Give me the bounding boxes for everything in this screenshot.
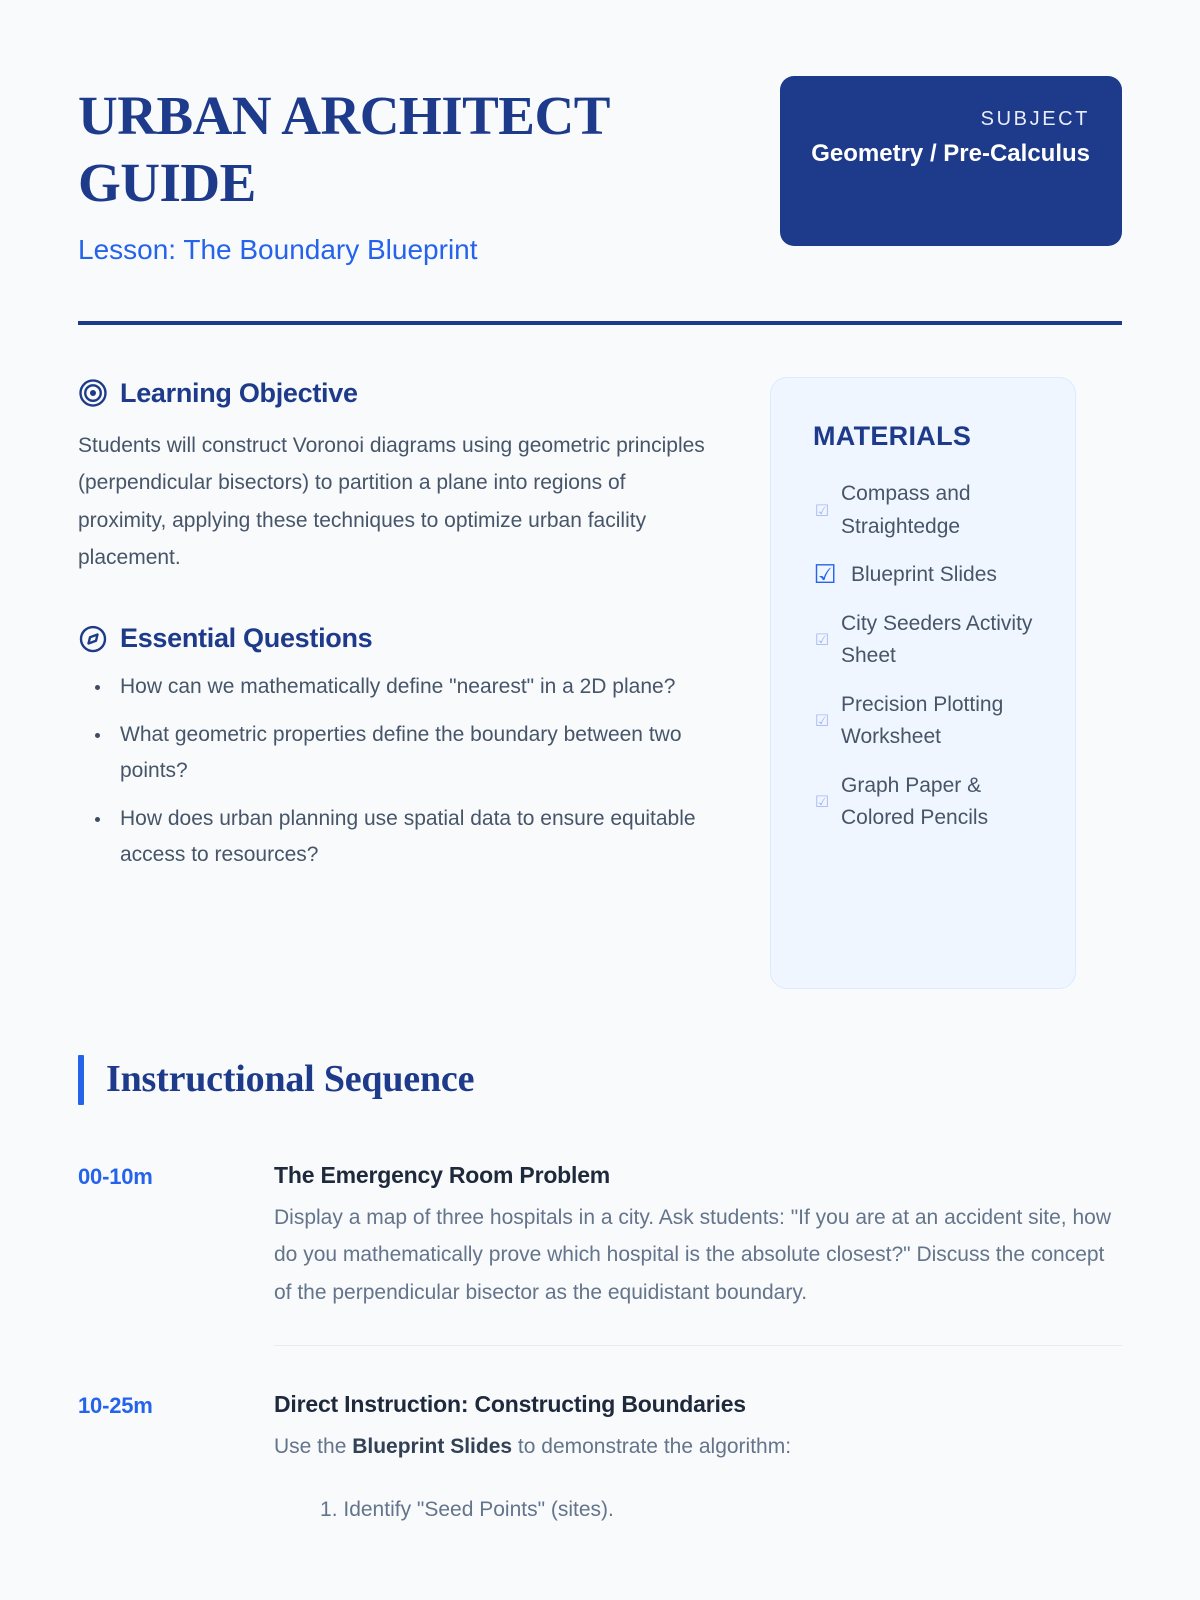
target-icon xyxy=(78,378,108,408)
materials-item[interactable]: ☑ Compass and Straightedge xyxy=(813,478,1053,543)
sequence-item-title: The Emergency Room Problem xyxy=(274,1159,1122,1191)
sequence-item-time: 00-10m xyxy=(78,1159,274,1193)
materials-item-label: Precision Plotting Worksheet xyxy=(841,689,1053,754)
checked-box-icon: ☑ xyxy=(813,503,831,519)
materials-item[interactable]: ☑ City Seeders Activity Sheet xyxy=(813,608,1053,673)
learning-objective-heading: Learning Objective xyxy=(78,377,730,409)
materials-item-label: City Seeders Activity Sheet xyxy=(841,608,1053,673)
materials-item-label: Compass and Straightedge xyxy=(841,478,1053,543)
materials-heading: MATERIALS xyxy=(813,420,1053,452)
instructional-sequence-heading: Instructional Sequence xyxy=(78,1055,1122,1105)
body-columns: Learning Objective Students will constru… xyxy=(78,377,1122,989)
checked-box-icon: ☑ xyxy=(813,562,837,588)
title-block: URBAN ARCHITECT GUIDE Lesson: The Bounda… xyxy=(78,76,740,269)
sequence-item: 00-10m The Emergency Room Problem Displa… xyxy=(78,1159,1122,1311)
essential-questions-heading: Essential Questions xyxy=(78,622,730,654)
spacer xyxy=(78,1346,1122,1388)
sequence-item-body: The Emergency Room Problem Display a map… xyxy=(274,1159,1122,1311)
sequence-item-body: Direct Instruction: Constructing Boundar… xyxy=(274,1388,1122,1529)
sequence-item-text: Display a map of three hospitals in a ci… xyxy=(274,1199,1122,1311)
materials-item-label: Graph Paper & Colored Pencils xyxy=(841,770,1053,835)
list-item: How can we mathematically define "neares… xyxy=(78,669,730,705)
compass-icon xyxy=(78,624,108,654)
lesson-subtitle: Lesson: The Boundary Blueprint xyxy=(78,232,740,268)
document-header: URBAN ARCHITECT GUIDE Lesson: The Bounda… xyxy=(78,0,1122,269)
instructional-sequence-title: Instructional Sequence xyxy=(106,1057,474,1103)
accent-bar xyxy=(78,1055,84,1105)
sequence-item: 10-25m Direct Instruction: Constructing … xyxy=(78,1388,1122,1529)
materials-item-label: Blueprint Slides xyxy=(847,559,997,592)
learning-objective-title: Learning Objective xyxy=(120,377,358,409)
list-item: Identify "Seed Points" (sites). xyxy=(320,1491,1122,1528)
instructional-sequence-section: Instructional Sequence 00-10m The Emerge… xyxy=(78,1055,1122,1529)
sequence-list: 00-10m The Emergency Room Problem Displa… xyxy=(78,1159,1122,1529)
materials-item[interactable]: ☑ Blueprint Slides xyxy=(813,559,1053,592)
checked-box-icon: ☑ xyxy=(813,794,831,810)
materials-item[interactable]: ☑ Graph Paper & Colored Pencils xyxy=(813,770,1053,835)
sequence-steps-list: Identify "Seed Points" (sites). xyxy=(274,1491,1122,1528)
essential-questions-title: Essential Questions xyxy=(120,622,372,654)
subject-badge-label: SUBJECT xyxy=(808,106,1090,132)
intro-text-before: Use the xyxy=(274,1435,352,1458)
subject-badge: SUBJECT Geometry / Pre-Calculus xyxy=(780,76,1122,246)
intro-text-after: to demonstrate the algorithm: xyxy=(512,1435,791,1458)
essential-questions-list: How can we mathematically define "neares… xyxy=(78,669,730,874)
materials-panel: MATERIALS ☑ Compass and Straightedge ☑ B… xyxy=(770,377,1076,989)
materials-item[interactable]: ☑ Precision Plotting Worksheet xyxy=(813,689,1053,754)
header-divider xyxy=(78,321,1122,325)
lesson-plan-page: URBAN ARCHITECT GUIDE Lesson: The Bounda… xyxy=(0,0,1200,1600)
checked-box-icon: ☑ xyxy=(813,632,831,648)
page-title: URBAN ARCHITECT GUIDE xyxy=(78,82,638,216)
sequence-item-title: Direct Instruction: Constructing Boundar… xyxy=(274,1388,1122,1420)
sequence-item-intro: Use the Blueprint Slides to demonstrate … xyxy=(274,1428,1122,1465)
materials-list: ☑ Compass and Straightedge ☑ Blueprint S… xyxy=(813,478,1053,835)
intro-text-bold: Blueprint Slides xyxy=(352,1435,512,1458)
main-column: Learning Objective Students will constru… xyxy=(78,377,730,886)
learning-objective-text: Students will construct Voronoi diagrams… xyxy=(78,427,718,577)
subject-badge-value: Geometry / Pre-Calculus xyxy=(808,138,1090,170)
list-item: How does urban planning use spatial data… xyxy=(78,801,730,873)
checked-box-icon: ☑ xyxy=(813,713,831,729)
sidebar-column: MATERIALS ☑ Compass and Straightedge ☑ B… xyxy=(770,377,1076,989)
sequence-item-time: 10-25m xyxy=(78,1388,274,1422)
list-item: What geometric properties define the bou… xyxy=(78,717,730,789)
